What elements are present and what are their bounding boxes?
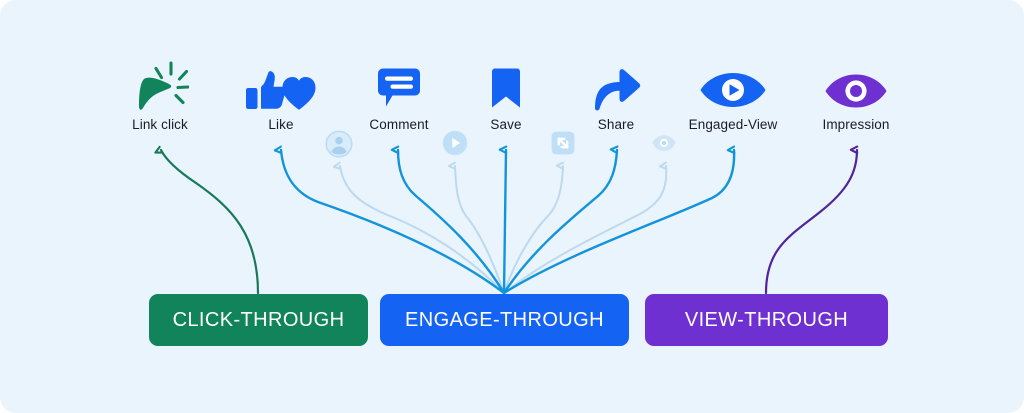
arrow-engage-to-comment xyxy=(398,150,504,293)
ghost-icon-expand xyxy=(543,129,583,157)
arrow-click-through-to-link-click xyxy=(161,150,258,293)
pill-view-through[interactable]: VIEW-THROUGH xyxy=(645,294,888,346)
play-circle-icon xyxy=(441,129,469,157)
metric-engaged-view[interactable]: Engaged-View xyxy=(663,60,803,132)
pill-click-through[interactable]: CLICK-THROUGH xyxy=(149,294,368,346)
metric-impression[interactable]: Impression xyxy=(786,60,926,132)
eye-outline-icon xyxy=(650,131,678,155)
eye-icon xyxy=(786,60,926,112)
ghost-icon-video-play xyxy=(435,129,475,157)
arrow-engage-to-save xyxy=(504,150,506,293)
ghost-icon-view xyxy=(644,131,684,155)
pill-label: CLICK-THROUGH xyxy=(173,309,345,332)
ghost-icon-profile-visit xyxy=(319,129,359,159)
expand-arrows-icon xyxy=(549,129,577,157)
profile-circle-icon xyxy=(324,129,354,159)
metric-label: Engaged-View xyxy=(663,118,803,132)
arrow-engage-to-engaged-view xyxy=(504,150,734,293)
pill-label: ENGAGE-THROUGH xyxy=(405,309,604,332)
metric-label: Impression xyxy=(786,118,926,132)
attribution-funnel-diagram: Link click Like Comment xyxy=(0,0,1024,413)
cursor-click-icon xyxy=(90,60,230,112)
metric-label: Link click xyxy=(90,118,230,132)
arrow-view-through-to-impression xyxy=(766,150,857,293)
metric-link-click[interactable]: Link click xyxy=(90,60,230,132)
pill-engage-through[interactable]: ENGAGE-THROUGH xyxy=(380,294,629,346)
eye-play-icon xyxy=(663,60,803,112)
pill-label: VIEW-THROUGH xyxy=(685,309,848,332)
arrow-engage-to-share xyxy=(504,150,617,293)
